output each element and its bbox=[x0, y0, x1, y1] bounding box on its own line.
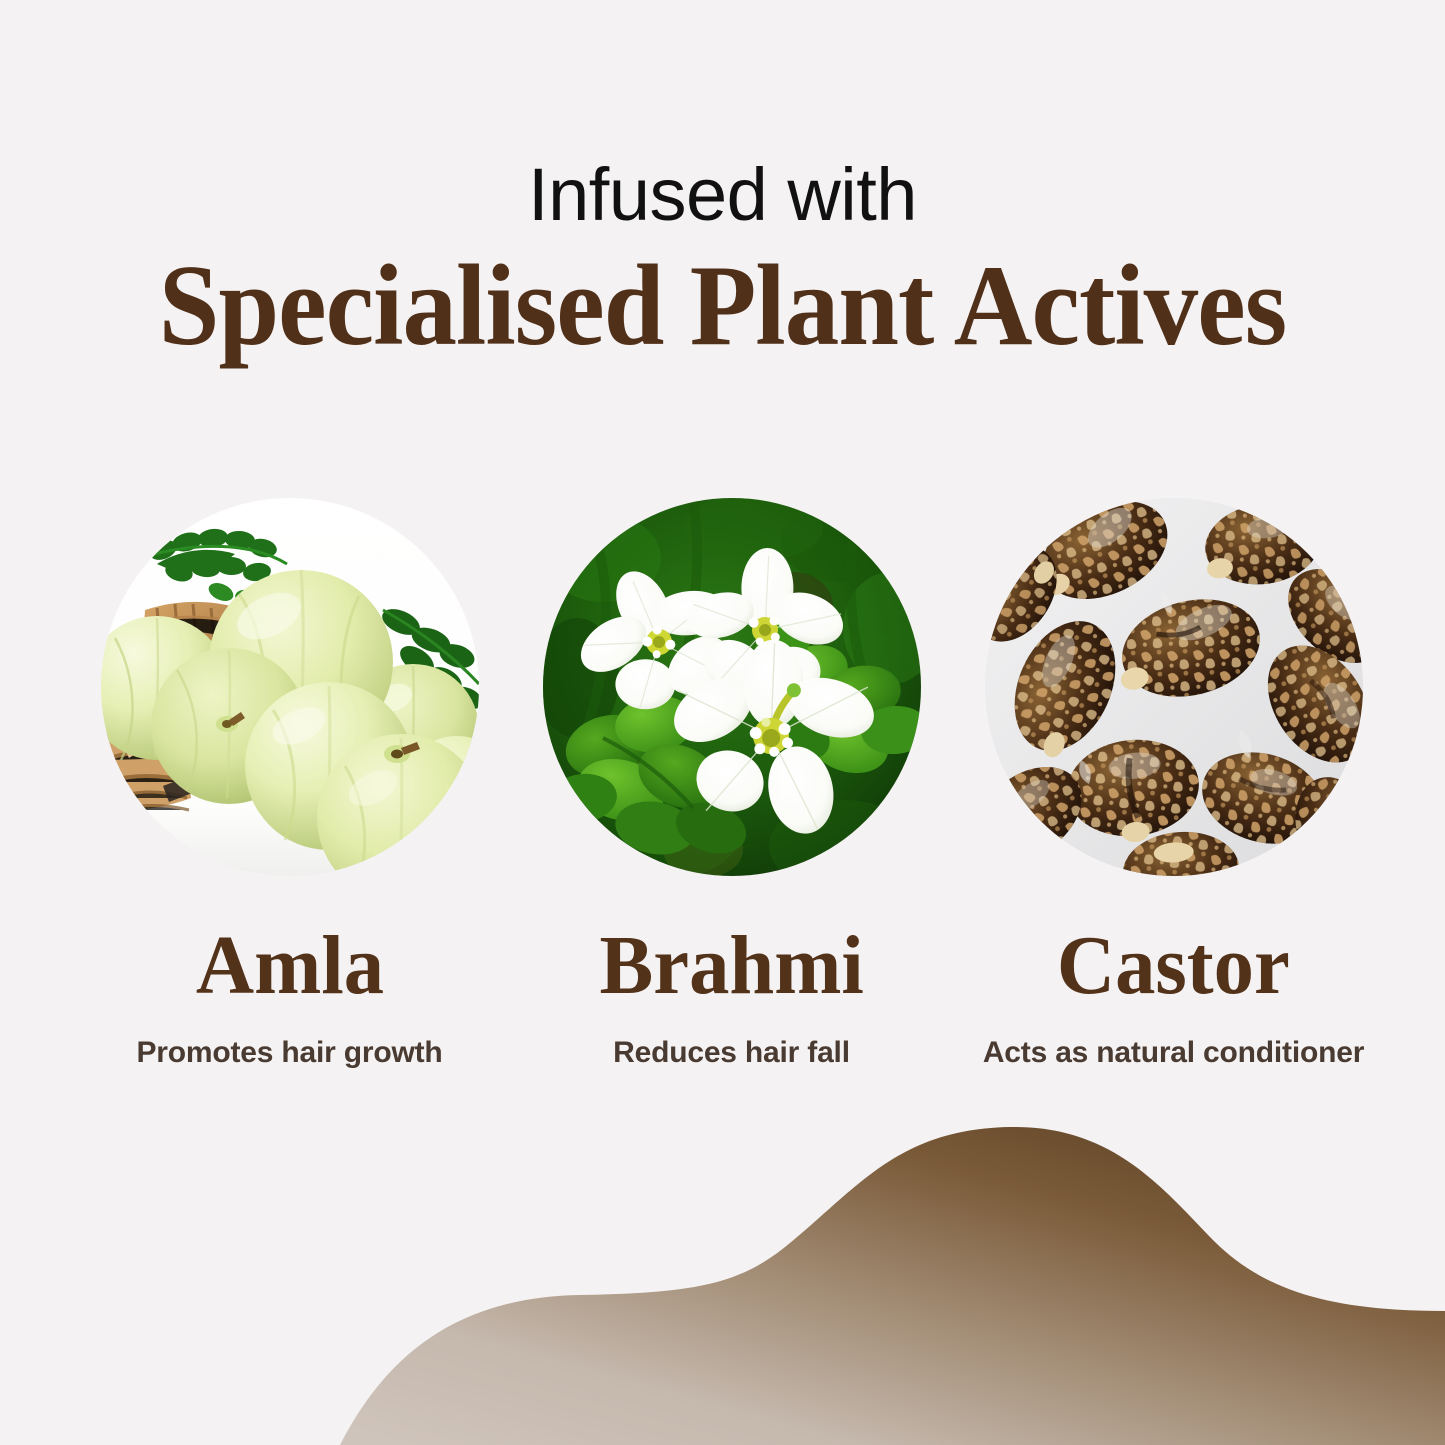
ingredient-name: Amla bbox=[195, 924, 383, 1008]
ingredient-card-amla: Amla Promotes hair growth bbox=[100, 498, 480, 1068]
bottom-brown-wave bbox=[0, 1115, 1445, 1445]
ingredient-card-castor: Castor Acts as natural conditioner bbox=[984, 498, 1364, 1068]
ingredient-description: Promotes hair growth bbox=[136, 1038, 442, 1068]
poster-canvas: Infused with Specialised Plant Actives bbox=[0, 0, 1445, 1445]
ingredient-row: Amla Promotes hair growth bbox=[0, 498, 1445, 1068]
ingredient-description: Reduces hair fall bbox=[613, 1038, 850, 1068]
page-heading: Infused with Specialised Plant Actives bbox=[0, 158, 1445, 364]
eyebrow-text: Infused with bbox=[0, 158, 1445, 232]
brahmi-image-circle bbox=[543, 498, 921, 876]
ingredient-card-brahmi: Brahmi Reduces hair fall bbox=[542, 498, 922, 1068]
ingredient-name: Brahmi bbox=[599, 924, 863, 1008]
ingredient-name: Castor bbox=[1057, 924, 1290, 1008]
castor-image-circle bbox=[985, 498, 1363, 876]
ingredient-description: Acts as natural conditioner bbox=[983, 1038, 1364, 1068]
amla-image-circle bbox=[101, 498, 479, 876]
page-title: Specialised Plant Actives bbox=[43, 248, 1401, 364]
